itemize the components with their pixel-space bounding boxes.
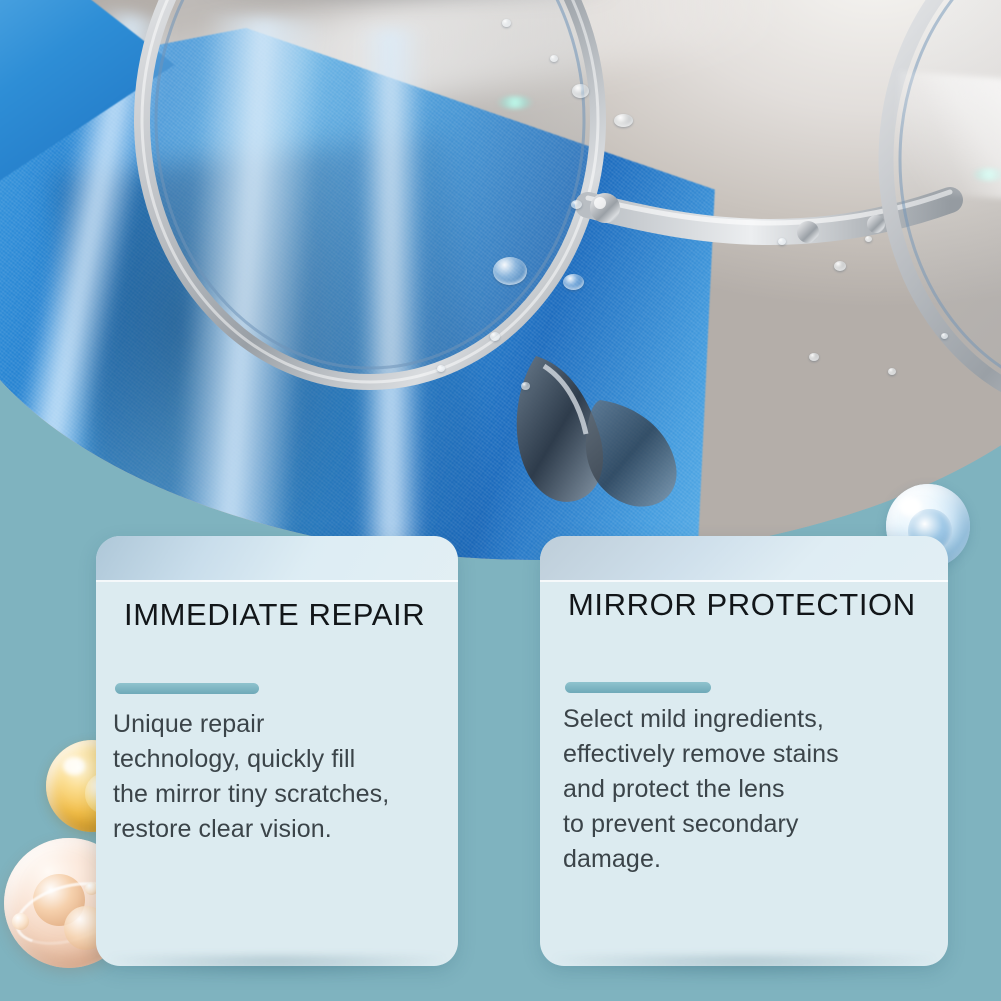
card-drop-shadow: [110, 956, 444, 978]
water-droplet-icon: [502, 19, 511, 27]
water-droplet-icon: [571, 200, 582, 209]
feature-card-body: Select mild ingredients, effectively rem…: [563, 702, 943, 877]
spray-mist: [892, 71, 1001, 205]
card-glass-hairline: [540, 580, 948, 582]
accent-divider-bar: [115, 683, 259, 694]
water-droplet-icon: [437, 365, 445, 372]
pearl-mini-bubble: [12, 913, 29, 930]
water-droplet-icon: [490, 332, 500, 341]
card-drop-shadow: [554, 956, 934, 978]
water-droplet-icon: [778, 238, 786, 245]
water-droplet-icon: [493, 257, 527, 285]
water-droplet-icon: [941, 333, 948, 339]
hero-photo: [0, 0, 1001, 560]
feature-card-immediate-repair[interactable]: IMMEDIATE REPAIR Unique repair technolog…: [96, 536, 458, 966]
water-droplet-icon: [563, 274, 584, 290]
water-droplet-icon: [834, 261, 846, 271]
product-feature-banner: IMMEDIATE REPAIR Unique repair technolog…: [0, 0, 1001, 1001]
card-glass-gradient: [96, 536, 458, 582]
water-droplet-icon: [521, 382, 530, 390]
spray-nozzle-icon: [980, 0, 1001, 180]
accent-divider-bar: [565, 682, 711, 693]
card-glass-overlay: [540, 536, 948, 582]
card-glass-overlay: [96, 536, 458, 582]
water-droplet-icon: [550, 55, 558, 62]
hero-photo-image: [0, 0, 1001, 560]
feature-card-body: Unique repair technology, quickly fill t…: [113, 707, 458, 847]
card-glass-hairline: [96, 580, 458, 582]
feature-card-title: MIRROR PROTECTION: [568, 587, 916, 623]
feature-card-mirror-protection[interactable]: MIRROR PROTECTION Select mild ingredient…: [540, 536, 948, 966]
card-glass-gradient: [540, 536, 948, 582]
feature-card-title: IMMEDIATE REPAIR: [124, 597, 425, 633]
